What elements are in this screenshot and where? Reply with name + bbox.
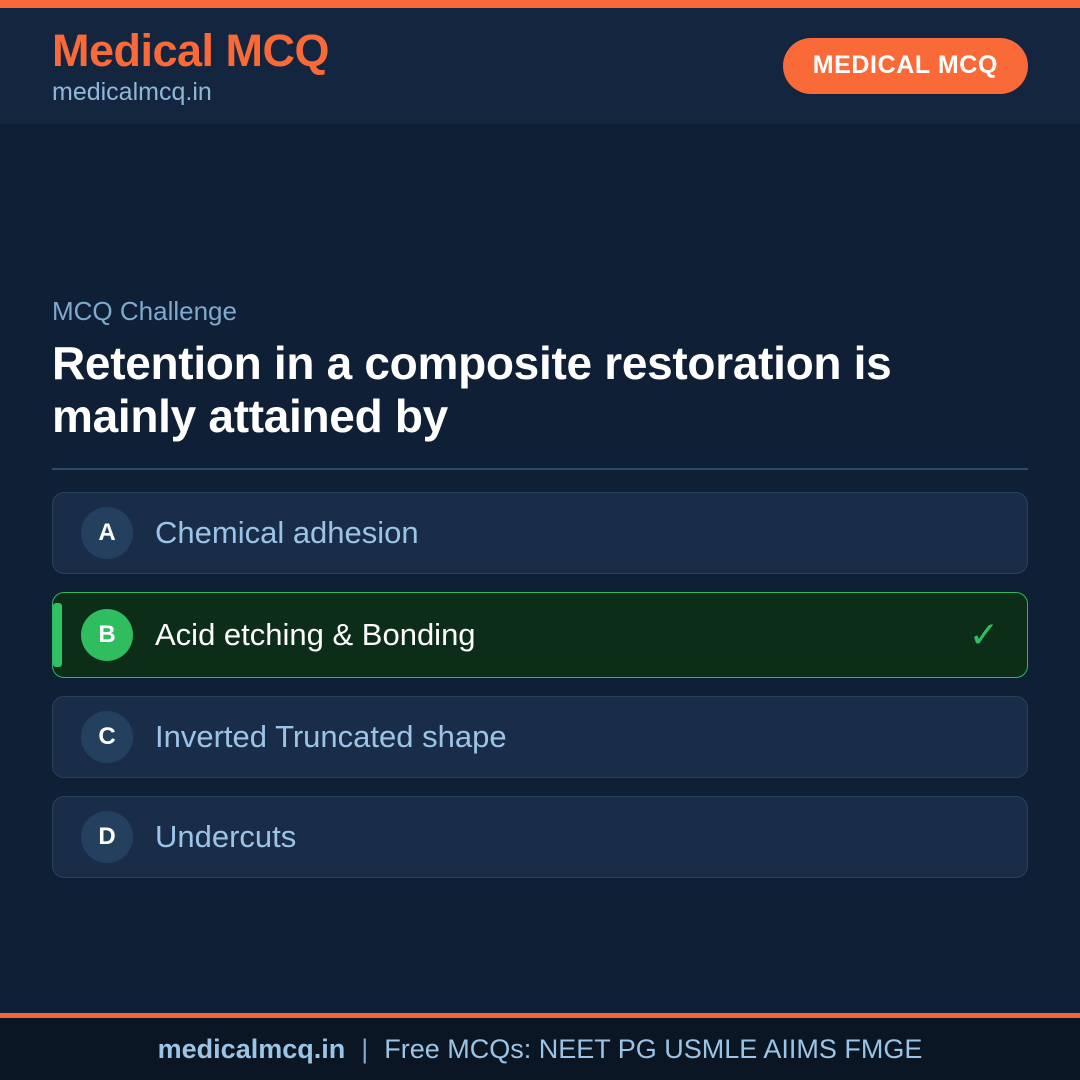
brand-site: medicalmcq.in bbox=[52, 77, 329, 107]
option-b-letter: B bbox=[81, 609, 133, 661]
question-title: Retention in a composite restoration is … bbox=[52, 337, 1012, 442]
option-d[interactable]: D Undercuts bbox=[52, 796, 1028, 878]
brand-block: Medical MCQ medicalmcq.in bbox=[52, 27, 329, 107]
footer-exams: Free MCQs: NEET PG USMLE AIIMS FMGE bbox=[384, 1034, 922, 1065]
option-a-label: Chemical adhesion bbox=[155, 514, 983, 551]
option-a-letter: A bbox=[81, 507, 133, 559]
footer-site: medicalmcq.in bbox=[158, 1034, 346, 1065]
check-icon: ✓ bbox=[969, 614, 999, 656]
option-c-letter: C bbox=[81, 711, 133, 763]
brand-title: Medical MCQ bbox=[52, 27, 329, 74]
footer-separator: | bbox=[361, 1034, 368, 1065]
page-footer: medicalmcq.in | Free MCQs: NEET PG USMLE… bbox=[0, 1018, 1080, 1080]
option-a[interactable]: A Chemical adhesion bbox=[52, 492, 1028, 574]
page-header: Medical MCQ medicalmcq.in MEDICAL MCQ bbox=[0, 8, 1080, 124]
options-list: A Chemical adhesion B Acid etching & Bon… bbox=[52, 492, 1028, 878]
option-c[interactable]: C Inverted Truncated shape bbox=[52, 696, 1028, 778]
page-body: MCQ Challenge Retention in a composite r… bbox=[0, 124, 1080, 1013]
question-block: MCQ Challenge Retention in a composite r… bbox=[52, 296, 1028, 442]
option-b[interactable]: B Acid etching & Bonding ✓ bbox=[52, 592, 1028, 678]
option-b-label: Acid etching & Bonding bbox=[155, 616, 953, 653]
question-divider bbox=[52, 468, 1028, 470]
header-badge: MEDICAL MCQ bbox=[783, 38, 1028, 94]
option-c-label: Inverted Truncated shape bbox=[155, 718, 983, 755]
top-accent-bar bbox=[0, 0, 1080, 8]
option-d-letter: D bbox=[81, 811, 133, 863]
correct-accent-bar bbox=[53, 603, 62, 667]
mcq-poster: Medical MCQ medicalmcq.in MEDICAL MCQ MC… bbox=[0, 0, 1080, 1080]
option-d-label: Undercuts bbox=[155, 818, 983, 855]
body-spacer bbox=[52, 878, 1028, 1013]
question-eyebrow: MCQ Challenge bbox=[52, 296, 1028, 327]
